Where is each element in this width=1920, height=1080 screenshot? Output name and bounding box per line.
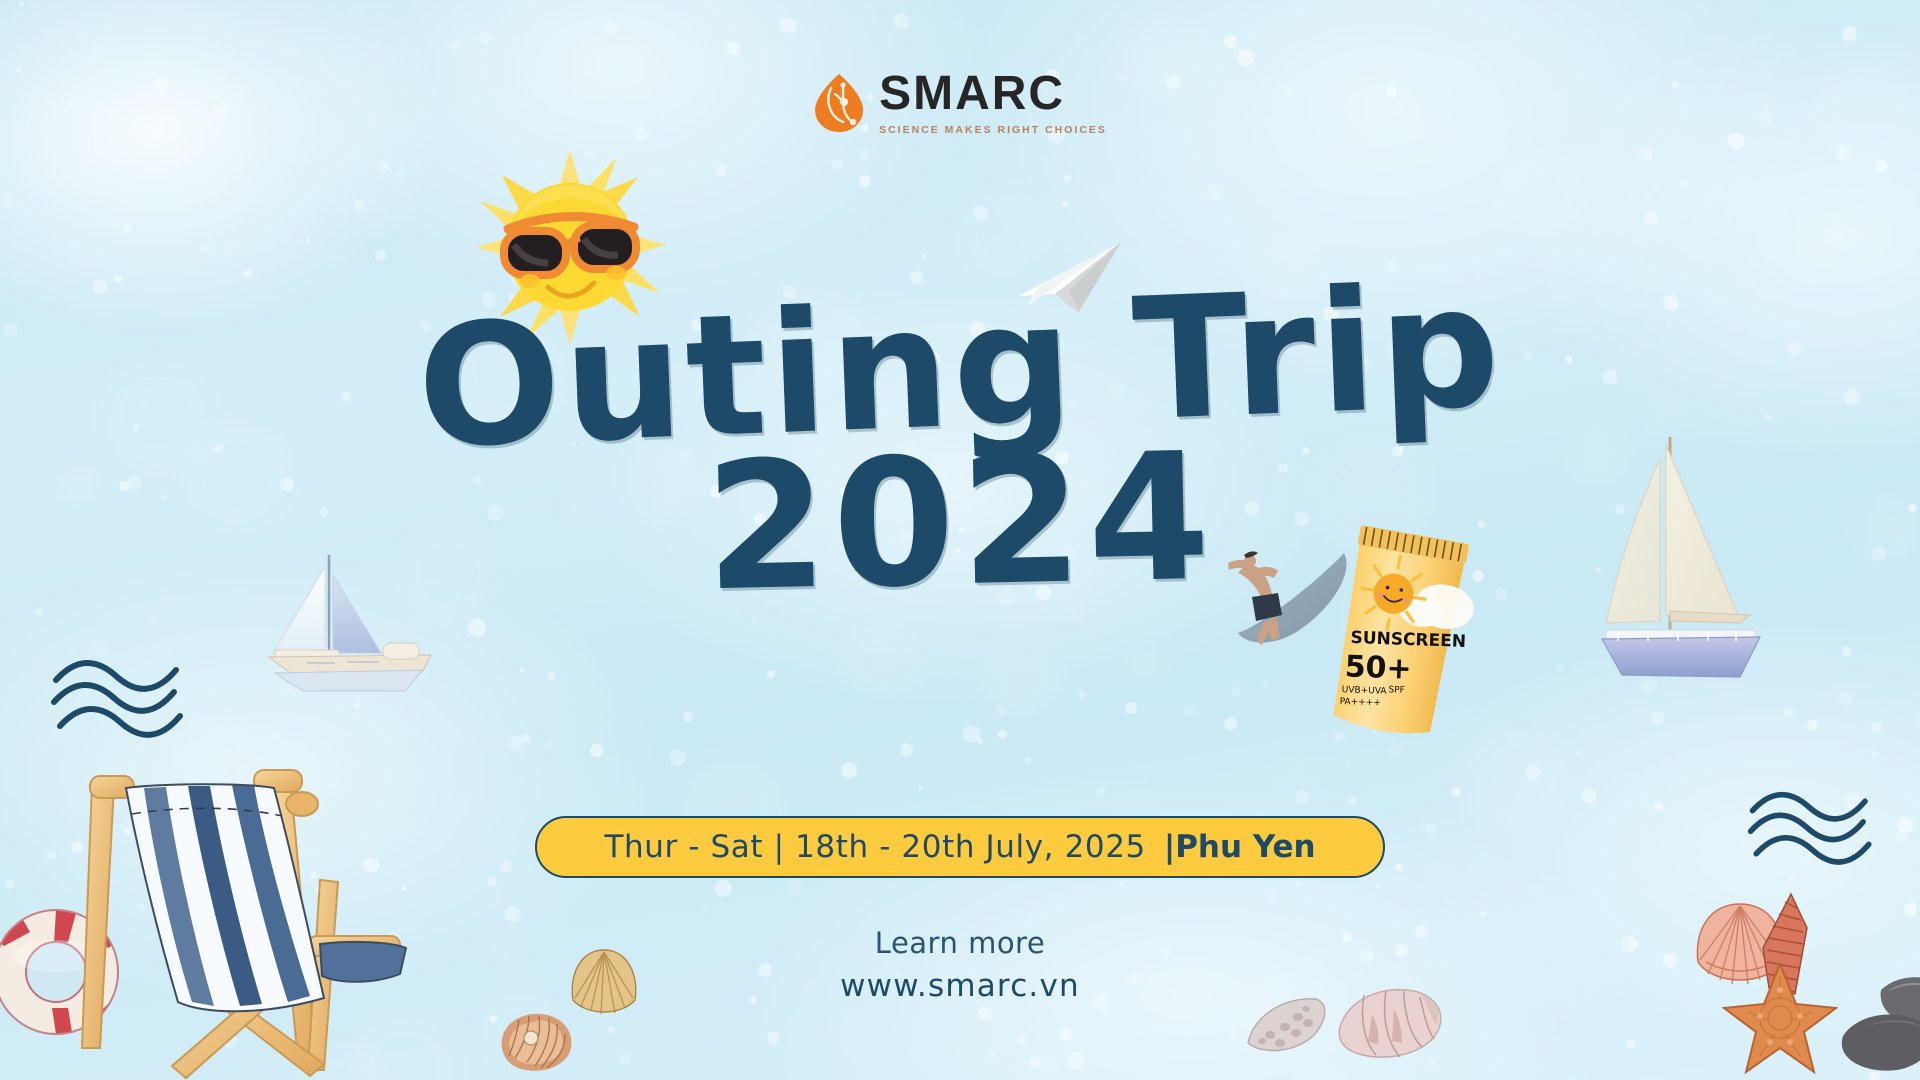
brand-name: SMARC xyxy=(879,70,1065,118)
deck-chair-icon xyxy=(62,748,412,1080)
brand-logo[interactable]: SMARC SCIENCE MAKES RIGHT CHOICES xyxy=(813,70,1107,136)
sunscreen-product-label: SUNSCREEN xyxy=(1350,628,1466,652)
headline-word-trip: Trip xyxy=(1130,248,1506,458)
wave-lines-left-icon xyxy=(48,640,208,740)
sailboat-right-icon xyxy=(1600,425,1785,700)
droplet-circuit-icon xyxy=(813,72,865,134)
brand-tagline: SCIENCE MAKES RIGHT CHOICES xyxy=(879,124,1107,136)
seashell-cowrie-icon xyxy=(1240,995,1336,1062)
event-location-text: |Phu Yen xyxy=(1164,829,1316,865)
date-location-banner[interactable]: Thur - Sat | 18th - 20th July, 2025 |Phu… xyxy=(535,816,1385,878)
wave-lines-right-icon xyxy=(1745,770,1895,870)
poster-canvas: OutingTrip 2024 xyxy=(0,0,1920,1080)
event-date-text: Thur - Sat | 18th - 20th July, 2025 xyxy=(604,829,1145,865)
sunscreen-spf-value: 50+ xyxy=(1344,649,1412,686)
sunscreen-spf-label: SPF xyxy=(1388,685,1405,696)
sun-with-sunglasses-icon xyxy=(470,145,670,355)
website-link[interactable]: www.smarc.vn xyxy=(0,968,1920,1004)
footer-block: Learn more www.smarc.vn xyxy=(0,926,1920,1004)
seashell-nautilus-icon xyxy=(495,1010,579,1080)
sailboat-left-icon xyxy=(255,545,445,710)
learn-more-label: Learn more xyxy=(0,926,1920,960)
sunscreen-protection-2: PA++++ xyxy=(1339,697,1381,708)
brand-text: SMARC SCIENCE MAKES RIGHT CHOICES xyxy=(879,70,1107,136)
sunscreen-protection-1: UVB+UVA xyxy=(1342,685,1388,697)
paper-airplane-icon xyxy=(1015,238,1125,323)
